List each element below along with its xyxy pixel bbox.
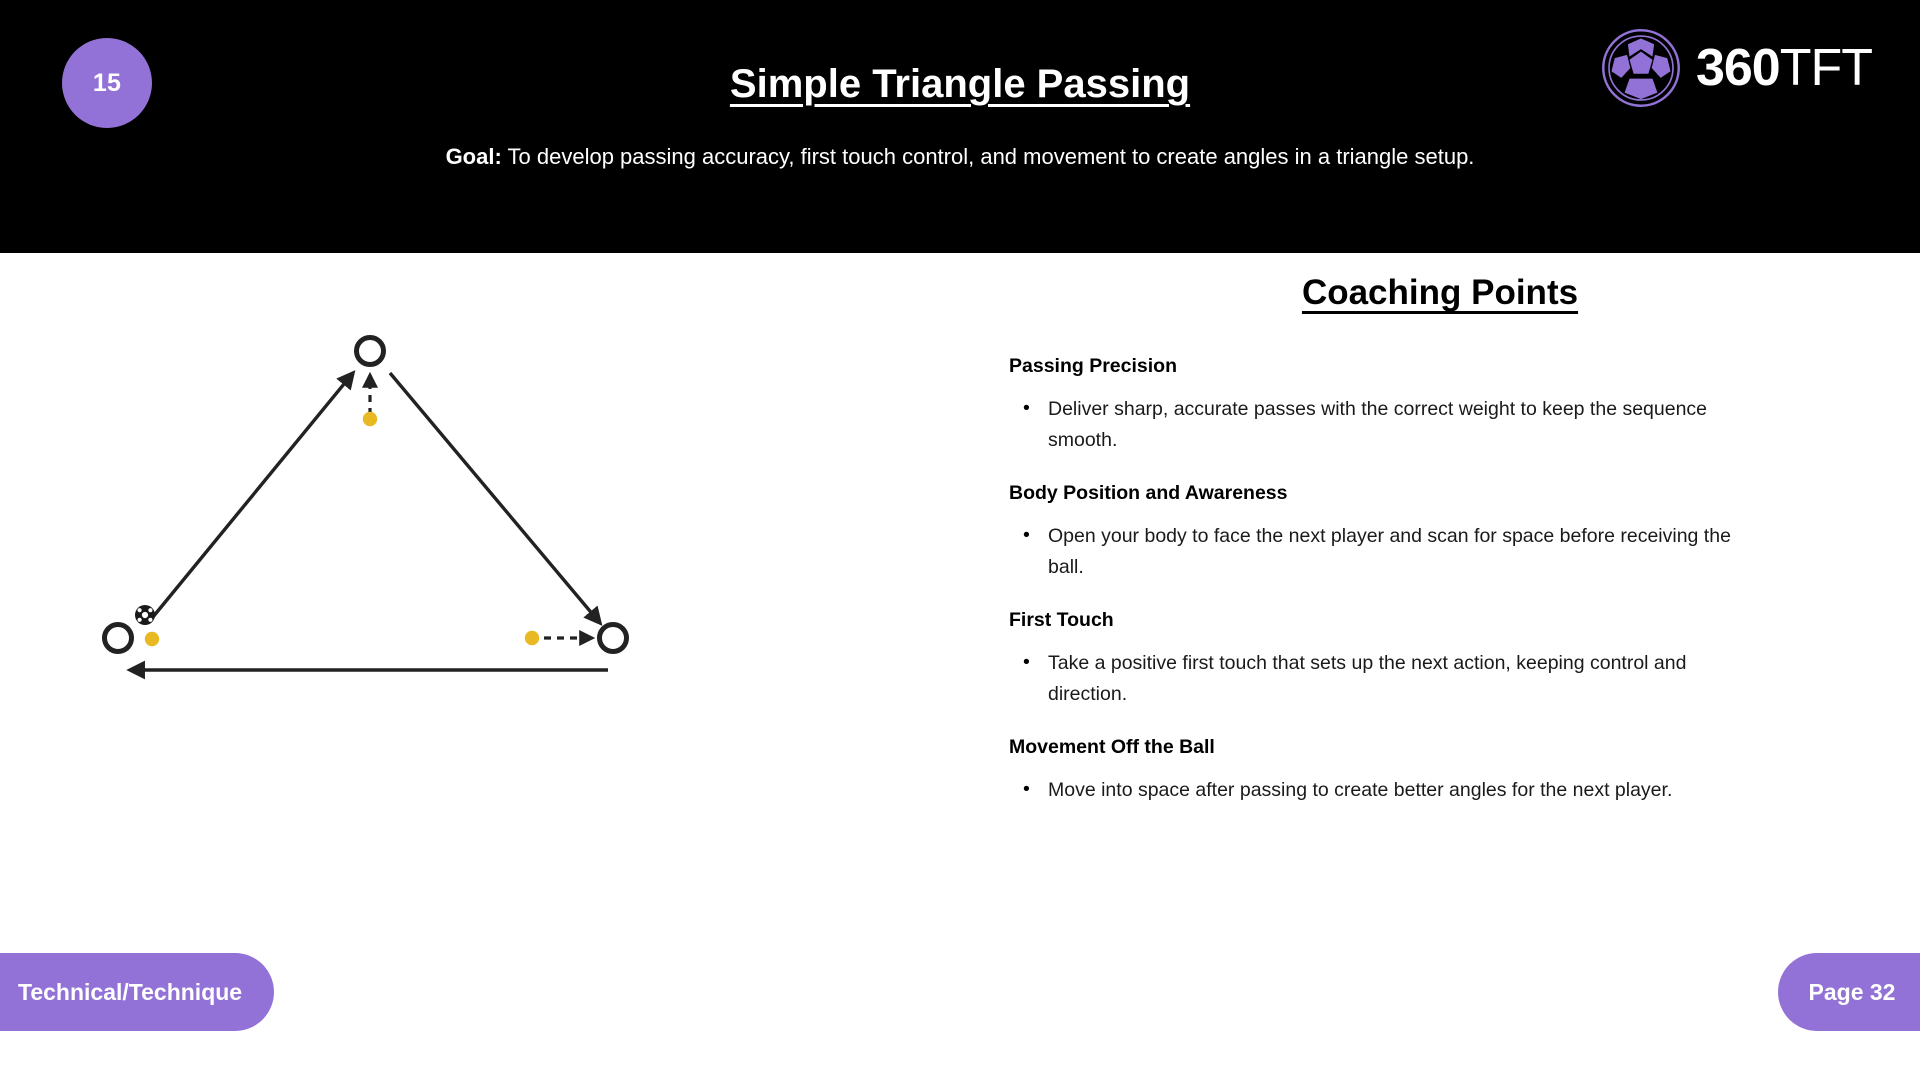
ball-marker-top: [363, 412, 377, 426]
coaching-point-heading: Movement Off the Ball: [1009, 736, 1880, 759]
coaching-point-items: Deliver sharp, accurate passes with the …: [1009, 394, 1880, 456]
category-label: Technical/Technique: [18, 979, 242, 1006]
header-bar: 15 Simple Triangle Passing Goal: To deve…: [0, 0, 1920, 253]
brand-360: 360: [1696, 39, 1780, 97]
brand-logo: 360TFT: [1600, 27, 1872, 109]
category-badge[interactable]: Technical/Technique: [0, 953, 274, 1031]
ball-marker-bottom-left: [145, 632, 159, 646]
coaching-point-item: Take a positive first touch that sets up…: [1009, 648, 1744, 710]
coaching-point-items: Take a positive first touch that sets up…: [1009, 648, 1880, 710]
coaching-point-items: Open your body to face the next player a…: [1009, 521, 1880, 583]
drill-goal: Goal: To develop passing accuracy, first…: [446, 144, 1475, 170]
player-marker-bottom-right: [600, 625, 627, 652]
player-marker-bottom-left: [105, 625, 132, 652]
ball-marker-bottom-right: [525, 631, 539, 645]
player-marker-top: [357, 338, 384, 365]
coaching-points-list: Passing Precision Deliver sharp, accurat…: [960, 355, 1920, 806]
coaching-point-heading: First Touch: [1009, 609, 1880, 632]
triangle-passing-diagram: [60, 293, 740, 733]
coaching-point-items: Move into space after passing to create …: [1009, 775, 1880, 806]
coaching-point-block: Movement Off the Ball Move into space af…: [1009, 736, 1880, 806]
pass-line-apex-to-bottomright: [390, 373, 600, 623]
goal-text: To develop passing accuracy, first touch…: [502, 144, 1475, 169]
header-text-group: Simple Triangle Passing Goal: To develop…: [300, 0, 1620, 253]
page-number-badge[interactable]: Page 32: [1778, 953, 1920, 1031]
coaching-point-block: Passing Precision Deliver sharp, accurat…: [1009, 355, 1880, 456]
coaching-point-block: Body Position and Awareness Open your bo…: [1009, 482, 1880, 583]
coaching-points-panel: Coaching Points Passing Precision Delive…: [960, 253, 1920, 1080]
coaching-point-heading: Body Position and Awareness: [1009, 482, 1880, 505]
coaching-point-item: Open your body to face the next player a…: [1009, 521, 1744, 583]
coaching-point-item: Move into space after passing to create …: [1009, 775, 1744, 806]
page-number-label: Page 32: [1809, 979, 1896, 1006]
session-number-label: 15: [93, 69, 121, 98]
soccer-ball-icon: [135, 605, 155, 625]
brand-wordmark: 360TFT: [1696, 42, 1872, 94]
page-title: Simple Triangle Passing: [730, 62, 1190, 107]
coaching-point-block: First Touch Take a positive first touch …: [1009, 609, 1880, 710]
soccer-ball-logo-icon: [1600, 27, 1682, 109]
session-number-badge: 15: [62, 38, 152, 128]
coaching-points-title: Coaching Points: [960, 273, 1920, 313]
goal-label: Goal:: [446, 144, 502, 169]
slide-page: 15 Simple Triangle Passing Goal: To deve…: [0, 0, 1920, 1080]
pass-line-bottomleft-to-apex: [148, 373, 353, 623]
content-area: Coaching Points Passing Precision Delive…: [0, 253, 1920, 1080]
coaching-point-item: Deliver sharp, accurate passes with the …: [1009, 394, 1744, 456]
coaching-point-heading: Passing Precision: [1009, 355, 1880, 378]
brand-tft: TFT: [1780, 39, 1872, 97]
